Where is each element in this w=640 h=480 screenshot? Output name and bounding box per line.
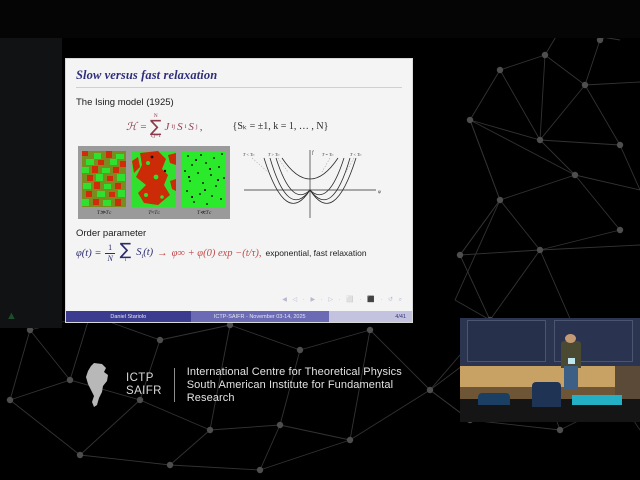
- footer-author: Daniel Stariolo: [66, 311, 191, 322]
- recording-indicator-icon: ▲: [6, 310, 18, 322]
- chair-left: [478, 393, 510, 405]
- logo-acronym: ICTP SAIFR: [126, 372, 162, 398]
- ising-cell-low-temp: T≪Tᴄ: [182, 151, 226, 217]
- desk-surface: [572, 395, 622, 405]
- hamiltonian-equation: ℋ = N ∑ i,j=1 Jij Si Sj ,: [126, 114, 203, 139]
- spin-j-sub: j: [196, 123, 198, 130]
- slide-title: Slow versus fast relaxation: [76, 68, 402, 83]
- presentation-slide[interactable]: Slow versus fast relaxation The Ising mo…: [65, 58, 413, 323]
- logo-divider: [174, 368, 175, 402]
- beamer-navigation-symbols[interactable]: ◀ ◁ · ▶ · ▷ · ⬜ · ⬛ · ↺ ⌕: [282, 296, 404, 304]
- ising-label-critical: T≈Tᴄ: [132, 211, 176, 217]
- ising-snapshots-figure: T≫Tᴄ: [78, 146, 230, 219]
- spin-j: S: [188, 121, 194, 133]
- slide-subheading: The Ising model (1925): [76, 97, 402, 108]
- fraction-numerator: 1: [106, 244, 114, 252]
- slide-footer: Daniel Stariolo ICTP-SAIFR - November 03…: [66, 311, 412, 322]
- footer-page-number: 4/41: [329, 311, 412, 322]
- hamiltonian-lhs: ℋ =: [126, 120, 147, 133]
- logo-acronym-saifr: SAIFR: [126, 385, 162, 398]
- spin-set-notation: {Sₖ = ±1, k = 1, … , N}: [233, 121, 329, 132]
- one-over-n-fraction: 1 N: [105, 244, 114, 263]
- hamiltonian-equation-row: ℋ = N ∑ i,j=1 Jij Si Sj , {Sₖ = ±1, k = …: [76, 114, 402, 139]
- ising-lattice-critical: [132, 151, 176, 207]
- order-parameter-summation: ∑ i: [120, 243, 131, 263]
- limit-arrow: →: [157, 248, 168, 259]
- speaker-video-feed[interactable]: [460, 318, 640, 422]
- ictp-saifr-logo: ICTP SAIFR International Centre for Theo…: [78, 362, 408, 408]
- logo-name-line1: International Centre for Theoretical Phy…: [187, 366, 408, 379]
- figures-band: T≫Tᴄ: [76, 146, 402, 220]
- chalkboard-left: [467, 320, 546, 362]
- order-parameter-equation: φ(t) = 1 N ∑ i Si(t) → φ∞ + φ(0) exp −(t…: [76, 243, 402, 263]
- logo-acronym-ictp: ICTP: [126, 372, 162, 385]
- ising-cell-critical: T≈Tᴄ: [132, 151, 176, 217]
- title-divider: [76, 87, 402, 88]
- ising-label-low-temp: T≪Tᴄ: [182, 211, 226, 217]
- coupling-subscript: ij: [171, 123, 175, 130]
- order-sigma-glyph: ∑: [120, 243, 131, 257]
- chair-front: [532, 382, 561, 407]
- free-energy-curve-label-3: T = Tᴄ: [322, 152, 334, 157]
- order-spin-term: Si(t): [136, 247, 153, 260]
- ising-label-high-temp: T≫Tᴄ: [82, 211, 126, 217]
- ising-cell-high-temp: T≫Tᴄ: [82, 151, 126, 217]
- free-energy-curve-label-1: T < Tᴄ: [243, 152, 255, 157]
- logo-name-line2: South American Institute for Fundamental…: [187, 379, 408, 405]
- speaker-head: [565, 334, 576, 343]
- footer-event: ICTP-SAIFR - November 03-14, 2025: [191, 311, 329, 322]
- screen: Slow versus fast relaxation The Ising mo…: [0, 0, 640, 480]
- ising-lattice-high-temp: [82, 151, 126, 207]
- coupling-term: J: [165, 121, 170, 133]
- ising-lattice-low-temp: [182, 151, 226, 207]
- order-sum-index: i: [125, 258, 127, 264]
- hamiltonian-comma: ,: [200, 121, 203, 133]
- spin-i: S: [177, 121, 183, 133]
- free-energy-curve-label-4: T < Tᴄ: [350, 152, 362, 157]
- left-dark-panel: [0, 38, 62, 328]
- sum-lower-limit: i,j=1: [151, 134, 161, 140]
- fraction-denominator: N: [105, 255, 114, 263]
- ising-snapshot-row: T≫Tᴄ: [84, 151, 224, 217]
- speaker-legs: [564, 366, 578, 389]
- sigma-glyph: ∑: [150, 120, 161, 134]
- free-energy-landscape-figure: φ f T < Tᴄ T > Tᴄ T =: [242, 146, 382, 220]
- speaker-badge: [568, 358, 575, 364]
- logo-full-name: International Centre for Theoretical Phy…: [187, 366, 408, 405]
- order-parameter-heading: Order parameter: [76, 228, 402, 239]
- order-parameter-lhs: φ(t) =: [76, 248, 101, 259]
- speaker-torso: [561, 341, 581, 368]
- free-energy-x-axis-label: φ: [378, 190, 381, 195]
- order-spin-argument: (t): [143, 247, 153, 258]
- summation-symbol: N ∑ i,j=1: [150, 114, 161, 139]
- south-america-map-icon: [78, 362, 118, 408]
- spin-i-sub: i: [185, 123, 187, 130]
- free-energy-curve-label-2: T > Tᴄ: [268, 152, 280, 157]
- top-letterbox: [0, 0, 640, 38]
- order-parameter-annotation: exponential, fast relaxation: [265, 248, 366, 258]
- order-parameter-rhs: φ∞ + φ(0) exp −(t/τ),: [172, 248, 262, 259]
